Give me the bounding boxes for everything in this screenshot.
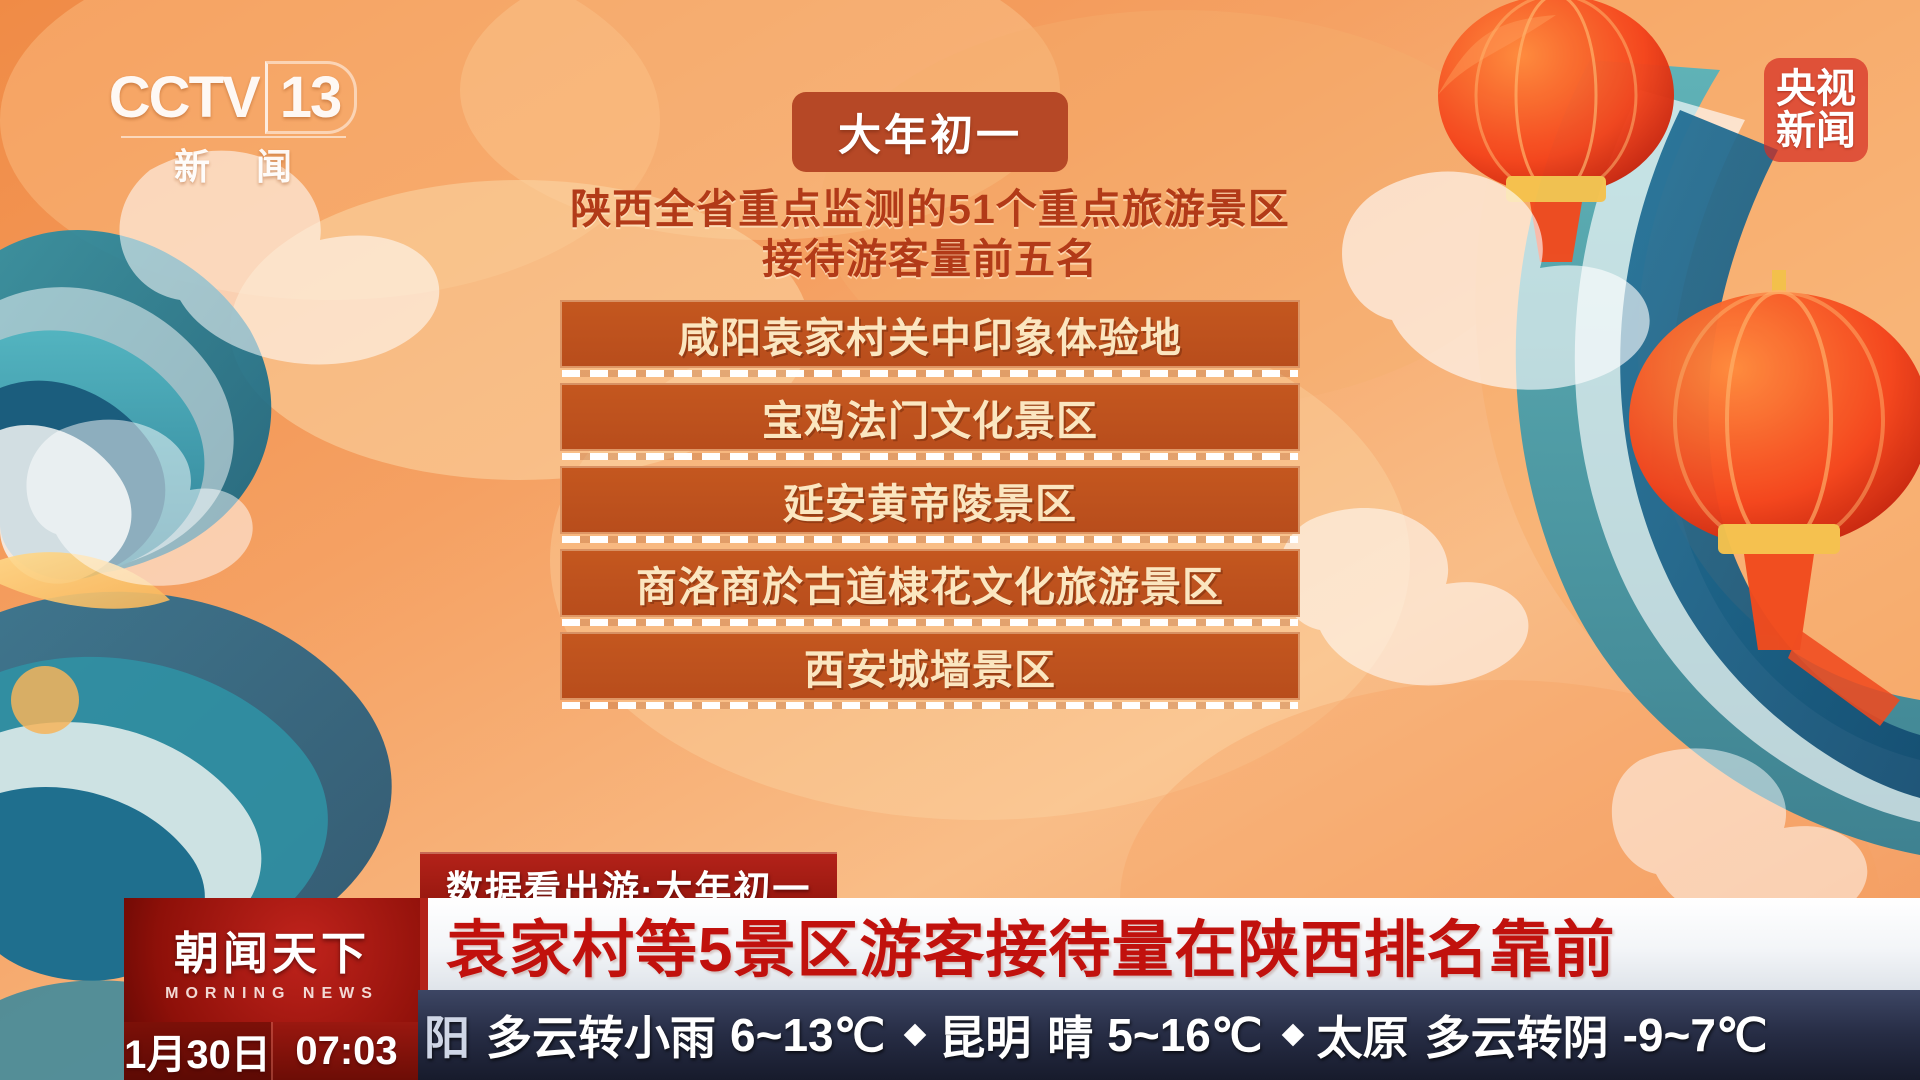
rank-row-1: 咸阳袁家村关中印象体验地 [560,300,1300,368]
panel-headline-line-1: 陕西全省重点监测的51个重点旅游景区 [570,184,1290,234]
weather-item-2: 昆明 晴 5~16℃ [939,1002,1262,1068]
broadcast-date: 1月30日 [124,1022,271,1080]
weather-city-1: 阳 [424,1002,470,1068]
watermark-line-2: 新闻 [1776,110,1856,152]
rank-divider-2 [562,453,1298,460]
weather-condition-1: 多云转小雨 [486,1002,716,1068]
weather-item-1: 阳 多云转小雨 6~13℃ [424,1002,885,1068]
rank-divider-1 [562,370,1298,377]
separator-diamond-icon [904,1024,927,1047]
rank-divider-5 [562,702,1298,709]
separator-diamond-icon [1281,1024,1304,1047]
broadcast-clock: 07:03 [271,1022,420,1080]
channel-number: 13 [265,61,358,134]
rank-label-2: 宝鸡法门文化景区 [762,387,1098,447]
weather-city-2: 昆明 [939,1002,1031,1068]
rank-row-4: 商洛商於古道棣花文化旅游景区 [560,549,1300,617]
rank-divider-3 [562,536,1298,543]
date-badge: 大年初一 [792,92,1068,172]
program-name-en: MORNING NEWS [165,985,379,1003]
watermark-line-1: 央视 [1776,68,1856,110]
program-name-cn: 朝闻天下 [174,917,370,982]
rank-label-3: 延安黄帝陵景区 [783,470,1077,530]
cctv-wordmark: CCTV [109,64,259,131]
cctv-logo-row: CCTV 13 [109,61,357,134]
rank-row-5: 西安城墙景区 [560,632,1300,700]
weather-ticker: 阳 多云转小雨 6~13℃ 昆明 晴 5~16℃ 太原 多云转阴 -9~7℃ [418,990,1920,1080]
rank-label-1: 咸阳袁家村关中印象体验地 [678,304,1182,364]
weather-condition-3: 多云转阴 [1425,1002,1609,1068]
weather-item-3: 太原 多云转阴 -9~7℃ [1317,1002,1768,1068]
rank-row-3: 延安黄帝陵景区 [560,466,1300,534]
rank-label-5: 西安城墙景区 [804,636,1056,696]
panel-headline: 陕西全省重点监测的51个重点旅游景区 接待游客量前五名 [570,184,1290,284]
program-block: 朝闻天下 MORNING NEWS 1月30日 07:03 [124,898,420,1080]
weather-range-1: 6~13℃ [730,1008,885,1062]
time-row: 1月30日 07:03 [124,1022,420,1080]
rank-label-4: 商洛商於古道棣花文化旅游景区 [636,553,1224,613]
rank-divider-4 [562,619,1298,626]
ranking-list: 咸阳袁家村关中印象体验地 宝鸡法门文化景区 延安黄帝陵景区 商洛商於古道棣花文化… [560,300,1300,715]
cctv-logo-subtitle: 新 闻 [121,136,346,190]
panel-headline-line-2: 接待游客量前五名 [570,234,1290,284]
weather-range-2: 5~16℃ [1107,1008,1262,1062]
headline-bar: 袁家村等5景区游客接待量在陕西排名靠前 [418,898,1920,990]
rank-row-2: 宝鸡法门文化景区 [560,383,1300,451]
headline-text: 袁家村等5景区游客接待量在陕西排名靠前 [446,899,1615,989]
program-logo: 朝闻天下 MORNING NEWS [124,898,420,1022]
info-panel: 大年初一 陕西全省重点监测的51个重点旅游景区 接待游客量前五名 咸阳袁家村关中… [480,92,1380,715]
weather-condition-2: 晴 [1047,1002,1093,1068]
cctv13-logo: CCTV 13 新 闻 [108,70,358,180]
cctv-news-watermark: 央视 新闻 [1764,58,1868,162]
weather-range-3: -9~7℃ [1623,1008,1768,1062]
weather-city-3: 太原 [1317,1002,1409,1068]
